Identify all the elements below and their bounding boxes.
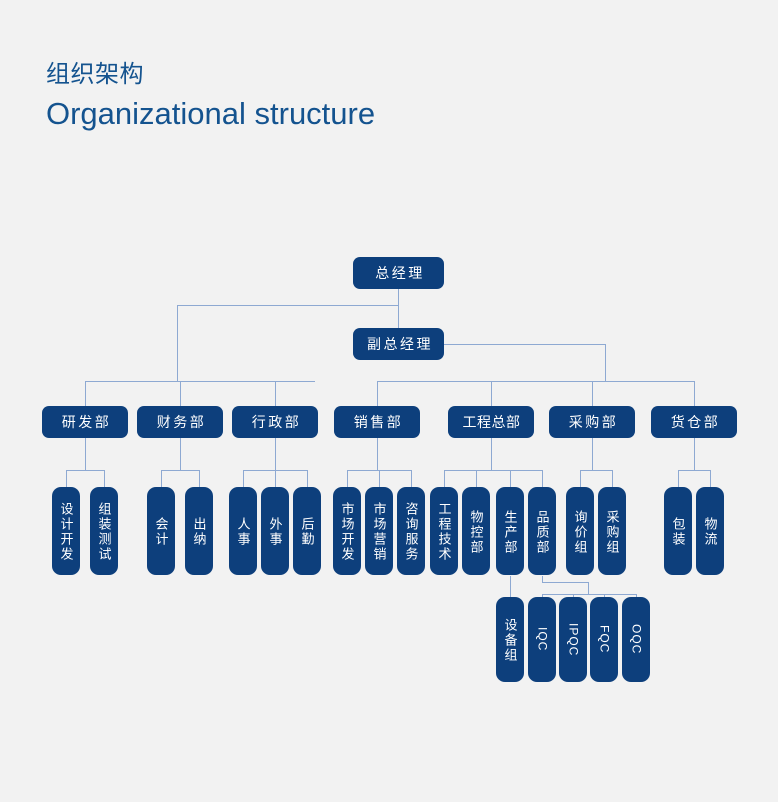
- page-title: 组织架构 Organizational structure: [46, 58, 375, 136]
- connector-left-trunk: [177, 305, 178, 381]
- connector-eng-to-u11: [444, 470, 445, 487]
- connector-dgm-to-right-branch: [444, 344, 605, 345]
- connector-drop-sales: [377, 381, 378, 406]
- connector-purch-to-u16: [612, 470, 613, 487]
- connector-wh-to-u17: [678, 470, 679, 487]
- connector-fin-to-u4: [199, 470, 200, 487]
- node-subunit-equipment-group[interactable]: 设备组: [496, 597, 524, 682]
- connector-production-to-equipment: [510, 576, 511, 597]
- connector-eng-to-u12: [476, 470, 477, 487]
- node-unit-engineering-technology[interactable]: 工程技术: [430, 487, 458, 575]
- node-unit-consulting-services[interactable]: 咨询服务: [397, 487, 425, 575]
- connector-drop-fin: [180, 381, 181, 406]
- node-department-administration[interactable]: 行政部: [232, 406, 318, 438]
- node-subunit-iqc[interactable]: IQC: [528, 597, 556, 682]
- node-unit-foreign-affairs[interactable]: 外事: [261, 487, 289, 575]
- connector-gm-to-left-branch: [177, 305, 399, 306]
- connector-admin-to-u6: [275, 470, 276, 487]
- node-department-warehouse[interactable]: 货仓部: [651, 406, 737, 438]
- connector-right-trunk: [605, 344, 606, 381]
- node-subunit-oqc[interactable]: OQC: [622, 597, 650, 682]
- node-unit-packaging[interactable]: 包装: [664, 487, 692, 575]
- connector-wh-bus: [678, 470, 710, 471]
- node-unit-material-control[interactable]: 物控部: [462, 487, 490, 575]
- connector-sales-to-u10: [411, 470, 412, 487]
- node-department-purchasing[interactable]: 采购部: [549, 406, 635, 438]
- node-unit-design-development[interactable]: 设计开发: [52, 487, 80, 575]
- connector-drop-eng: [491, 381, 492, 406]
- node-unit-market-development[interactable]: 市场开发: [333, 487, 361, 575]
- connector-sales-to-u8: [347, 470, 348, 487]
- node-department-sales[interactable]: 销售部: [334, 406, 420, 438]
- connector-wh-to-u18: [710, 470, 711, 487]
- node-unit-cashier[interactable]: 出纳: [185, 487, 213, 575]
- node-unit-quality[interactable]: 品质部: [528, 487, 556, 575]
- node-deputy-general-manager[interactable]: 副总经理: [353, 328, 444, 360]
- node-subunit-ipqc[interactable]: IPQC: [559, 597, 587, 682]
- connector-rd-to-u1: [66, 470, 67, 487]
- connector-right-group-bus: [377, 381, 694, 382]
- node-unit-marketing[interactable]: 市场营销: [365, 487, 393, 575]
- connector-drop-admin: [275, 381, 276, 406]
- connector-sales-stem: [377, 438, 378, 470]
- connector-purch-bus: [580, 470, 612, 471]
- connector-fin-bus: [161, 470, 199, 471]
- connector-fin-stem: [180, 438, 181, 470]
- node-unit-accounting[interactable]: 会计: [147, 487, 175, 575]
- connector-drop-rd: [85, 381, 86, 406]
- connector-eng-bus: [444, 470, 542, 471]
- connector-sales-to-u9: [379, 470, 380, 487]
- node-unit-production[interactable]: 生产部: [496, 487, 524, 575]
- connector-drop-purch: [592, 381, 593, 406]
- node-department-finance[interactable]: 财务部: [137, 406, 223, 438]
- page-title-english: Organizational structure: [46, 92, 375, 136]
- connector-rd-to-u2: [104, 470, 105, 487]
- org-chart-page: 组织架构 Organizational structure: [0, 0, 778, 802]
- connector-eng-stem: [491, 438, 492, 470]
- connector-eng-to-u14: [542, 470, 543, 487]
- node-general-manager[interactable]: 总经理: [353, 257, 444, 289]
- connector-admin-to-u5: [243, 470, 244, 487]
- connector-rd-bus: [66, 470, 104, 471]
- node-unit-logistics-support[interactable]: 后勤: [293, 487, 321, 575]
- node-unit-shipping-logistics[interactable]: 物流: [696, 487, 724, 575]
- connector-quality-jog: [542, 582, 589, 583]
- node-unit-human-resources[interactable]: 人事: [229, 487, 257, 575]
- connector-purch-stem: [592, 438, 593, 470]
- connector-admin-to-u7: [307, 470, 308, 487]
- connector-fin-to-u3: [161, 470, 162, 487]
- connector-purch-to-u15: [580, 470, 581, 487]
- node-unit-inquiry-group[interactable]: 询价组: [566, 487, 594, 575]
- node-department-rd[interactable]: 研发部: [42, 406, 128, 438]
- node-unit-procurement-group[interactable]: 采购组: [598, 487, 626, 575]
- connector-admin-stem: [275, 438, 276, 470]
- node-unit-assembly-testing[interactable]: 组装测试: [90, 487, 118, 575]
- connector-qc-bus: [542, 594, 636, 595]
- connector-drop-wh: [694, 381, 695, 406]
- connector-left-group-bus: [85, 381, 315, 382]
- node-department-engineering[interactable]: 工程总部: [448, 406, 534, 438]
- connector-eng-to-u13: [510, 470, 511, 487]
- connector-gm-to-dgm: [398, 305, 399, 328]
- connector-wh-stem: [694, 438, 695, 470]
- node-subunit-fqc[interactable]: FQC: [590, 597, 618, 682]
- page-title-chinese: 组织架构: [46, 58, 375, 92]
- connector-rd-stem: [85, 438, 86, 470]
